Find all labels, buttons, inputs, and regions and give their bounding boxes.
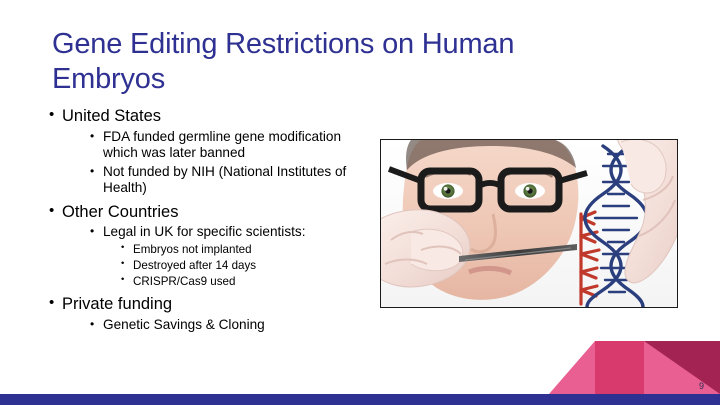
deco-rect-pink-center [595,341,644,394]
bullet-level1-private-funding: • Private funding [46,294,366,315]
bullet-marker-icon: • [49,294,54,313]
slide-body-content: • United States • FDA funded germline ge… [46,106,366,333]
bullet-level1-other-countries: • Other Countries [46,202,366,223]
bullet-level3-embryos-not-implanted: • Embryos not implanted [121,242,366,257]
bullet-level2-label: FDA funded germline gene modification wh… [103,129,341,160]
presentation-slide: Gene Editing Restrictions on Human Embry… [0,0,720,405]
bullet-marker-icon: • [90,129,94,144]
deco-triangle-light-left [549,341,644,394]
bullet-group-other-countries: • Other Countries • Legal in UK for spec… [46,202,366,289]
bullet-level2-genetic-savings-cloning: • Genetic Savings & Cloning [89,317,366,333]
bullet-marker-icon: • [121,274,124,286]
bullet-marker-icon: • [90,224,94,239]
bullet-marker-icon: • [90,317,94,332]
bullet-marker-icon: • [49,106,54,125]
bullet-level2-legal-in-uk: • Legal in UK for specific scientists: [89,224,366,240]
bullet-level1-label: Private funding [62,295,172,313]
bullet-level3-label: CRISPR/Cas9 used [133,275,235,288]
bullet-marker-icon: • [49,202,54,221]
bullet-level3-destroyed-after-14-days: • Destroyed after 14 days [121,258,366,273]
slide-number: 9 [699,382,704,391]
slide-title: Gene Editing Restrictions on Human Embry… [52,27,612,98]
deco-square-pink-right [644,341,720,394]
bullet-marker-icon: • [90,164,94,179]
bullet-level3-label: Embryos not implanted [133,243,252,256]
bullet-level2-not-funded-nih: • Not funded by NIH (National Institutes… [89,164,366,197]
deco-triangle-maroon [644,341,720,394]
bullet-level3-label: Destroyed after 14 days [133,259,256,272]
bullet-level2-fda-funded: • FDA funded germline gene modification … [89,129,366,162]
bullet-level3-crispr-cas9-used: • CRISPR/Cas9 used [121,274,366,289]
bullet-group-private-funding: • Private funding • Genetic Savings & Cl… [46,294,366,333]
bullet-level1-label: Other Countries [62,203,178,221]
bullet-level1-united-states: • United States [46,106,366,127]
bullet-marker-icon: • [121,242,124,254]
bottom-accent-bar [0,394,720,405]
bullet-group-united-states: • United States • FDA funded germline ge… [46,106,366,197]
bullet-level2-label: Legal in UK for specific scientists: [103,224,305,239]
bullet-marker-icon: • [121,258,124,270]
bullet-level2-label: Not funded by NIH (National Institutes o… [103,164,346,195]
bullet-level2-label: Genetic Savings & Cloning [103,317,265,332]
scientist-dna-illustration [381,140,677,307]
slide-photo [380,139,678,308]
bullet-level1-label: United States [62,107,161,125]
